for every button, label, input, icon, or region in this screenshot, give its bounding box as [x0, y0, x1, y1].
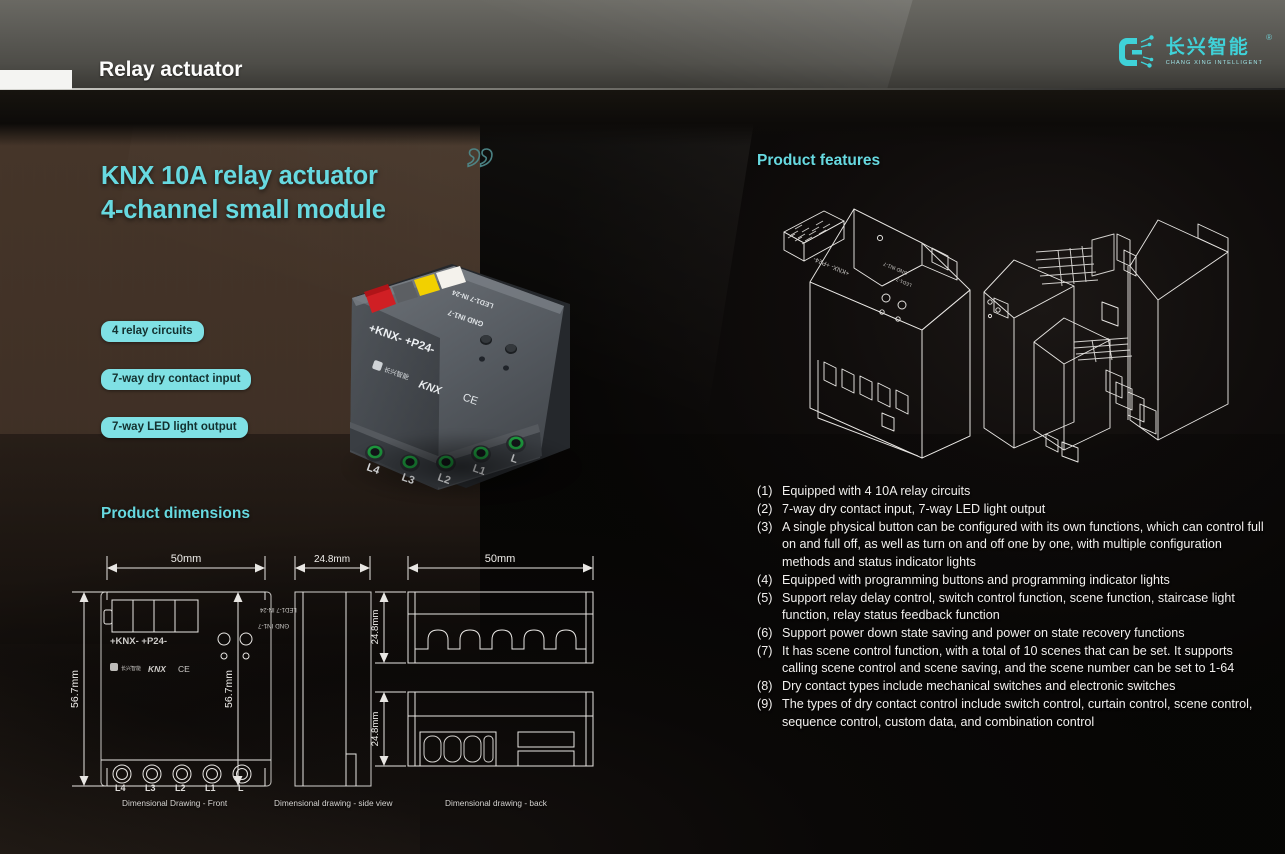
dimension-drawings-svg: 50mm 24.8mm 50mm 56.7mm 56.7mm 24.8mm 24… — [60, 548, 600, 818]
company-logo: 长兴智能 CHANG XING INTELLIGENT ® — [1117, 30, 1263, 74]
feature-item: (8) Dry contact types include mechanical… — [757, 678, 1267, 695]
product-features-list: (1) Equipped with 4 10A relay circuits (… — [757, 483, 1267, 732]
front-terminal-l3: L3 — [145, 783, 156, 793]
front-terminal-l2: L2 — [175, 783, 186, 793]
feature-text: Dry contact types include mechanical swi… — [782, 678, 1267, 695]
feature-badge-list: 4 relay circuits 7-way dry contact input… — [101, 321, 251, 438]
header-accent-bar — [0, 70, 72, 89]
badge-relay-circuits: 4 relay circuits — [101, 321, 204, 342]
logo-text-block: 长兴智能 CHANG XING INTELLIGENT ® — [1166, 38, 1263, 67]
front-terminal-l4: L4 — [115, 783, 126, 793]
side-width-label: 24.8mm — [314, 554, 350, 565]
front-led-label: LED1-7 IN-24 — [259, 606, 296, 612]
hero-title-line2: 4-channel small module — [101, 194, 386, 228]
front-gnd-in-label: GND IN1-7 — [258, 622, 290, 629]
feature-item: (2) 7-way dry contact input, 7-way LED l… — [757, 501, 1267, 518]
product-photo-shadow — [344, 432, 579, 502]
hero-title: KNX 10A relay actuator 4-channel small m… — [101, 160, 386, 227]
product-dimensions-heading: Product dimensions — [101, 505, 250, 523]
side-height-label: 56.7mm — [223, 670, 235, 708]
feature-number: (3) — [757, 519, 782, 536]
feature-item: (6) Support power down state saving and … — [757, 625, 1267, 642]
feature-item: (5) Support relay delay control, switch … — [757, 590, 1267, 625]
feature-item: (9) The types of dry contact control inc… — [757, 696, 1267, 731]
front-knx-mark: KNX — [148, 664, 167, 674]
front-height-label: 56.7mm — [69, 670, 81, 708]
svg-text:GND IN1-7: GND IN1-7 — [883, 260, 909, 276]
product-features-heading: Product features — [757, 152, 880, 170]
front-ce-mark: CE — [178, 664, 190, 674]
feature-item: (4) Equipped with programming buttons an… — [757, 572, 1267, 589]
dimension-drawings: 50mm 24.8mm 50mm 56.7mm 56.7mm 24.8mm 24… — [60, 548, 600, 818]
front-width-label: 50mm — [171, 553, 202, 565]
feature-number: (2) — [757, 501, 782, 518]
product-datasheet-page: Relay actuator 长兴智能 CHANG XING INTELLIGE… — [0, 0, 1285, 854]
front-knx-p24-label: +KNX- +P24- — [110, 636, 167, 647]
feature-item: (1) Equipped with 4 10A relay circuits — [757, 483, 1267, 500]
page-title: Relay actuator — [99, 58, 242, 82]
feature-number: (6) — [757, 625, 782, 642]
feature-text: Support relay delay control, switch cont… — [782, 590, 1267, 625]
caption-back: Dimensional drawing - back — [445, 798, 547, 808]
logo-english-name: CHANG XING INTELLIGENT — [1166, 61, 1263, 67]
registered-trademark-icon: ® — [1266, 33, 1272, 42]
exploded-diagram-svg: +KNX- +P24- GND IN1-7 LED1-7 — [762, 190, 1267, 480]
caption-front: Dimensional Drawing - Front — [122, 798, 227, 808]
quote-decoration-icon: ” — [466, 140, 498, 197]
feature-text: Support power down state saving and powe… — [782, 625, 1267, 642]
front-terminal-l: L — [238, 783, 244, 793]
feature-text: The types of dry contact control include… — [782, 696, 1267, 731]
feature-text: Equipped with 4 10A relay circuits — [782, 483, 1267, 500]
caption-side: Dimensional drawing - side view — [274, 798, 393, 808]
feature-number: (4) — [757, 572, 782, 589]
badge-dry-contact-input: 7-way dry contact input — [101, 369, 251, 390]
back-bottom-height-label: 24.8mm — [370, 712, 381, 747]
feature-item: (3) A single physical button can be conf… — [757, 519, 1267, 571]
back-width-label: 50mm — [485, 553, 516, 565]
svg-text:LED1-7: LED1-7 — [895, 276, 913, 288]
front-brand-label: 长兴智能 — [121, 665, 141, 672]
feature-text: 7-way dry contact input, 7-way LED light… — [782, 501, 1267, 518]
svg-text:+KNX- +P24-: +KNX- +P24- — [812, 255, 850, 277]
front-terminal-l1: L1 — [205, 783, 216, 793]
feature-text: Equipped with programming buttons and pr… — [782, 572, 1267, 589]
feature-number: (8) — [757, 678, 782, 695]
feature-number: (5) — [757, 590, 782, 607]
exploded-assembly-diagram: +KNX- +P24- GND IN1-7 LED1-7 — [762, 190, 1267, 480]
hero-title-line1: KNX 10A relay actuator — [101, 160, 386, 194]
feature-text: It has scene control function, with a to… — [782, 643, 1267, 678]
back-top-height-label: 24.8mm — [370, 610, 381, 645]
feature-number: (9) — [757, 696, 782, 713]
product-photo: +KNX- +P24- GND IN1-7 LED1-7 IN-24 长兴智能 … — [334, 252, 586, 500]
badge-led-output: 7-way LED light output — [101, 417, 248, 438]
header-shadow — [0, 90, 1285, 146]
feature-number: (1) — [757, 483, 782, 500]
feature-item: (7) It has scene control function, with … — [757, 643, 1267, 678]
header-gloss — [407, 0, 912, 88]
brand-mark-icon — [1117, 33, 1157, 71]
feature-number: (7) — [757, 643, 782, 660]
feature-text: A single physical button can be configur… — [782, 519, 1267, 571]
logo-chinese-name: 长兴智能 — [1166, 38, 1263, 57]
